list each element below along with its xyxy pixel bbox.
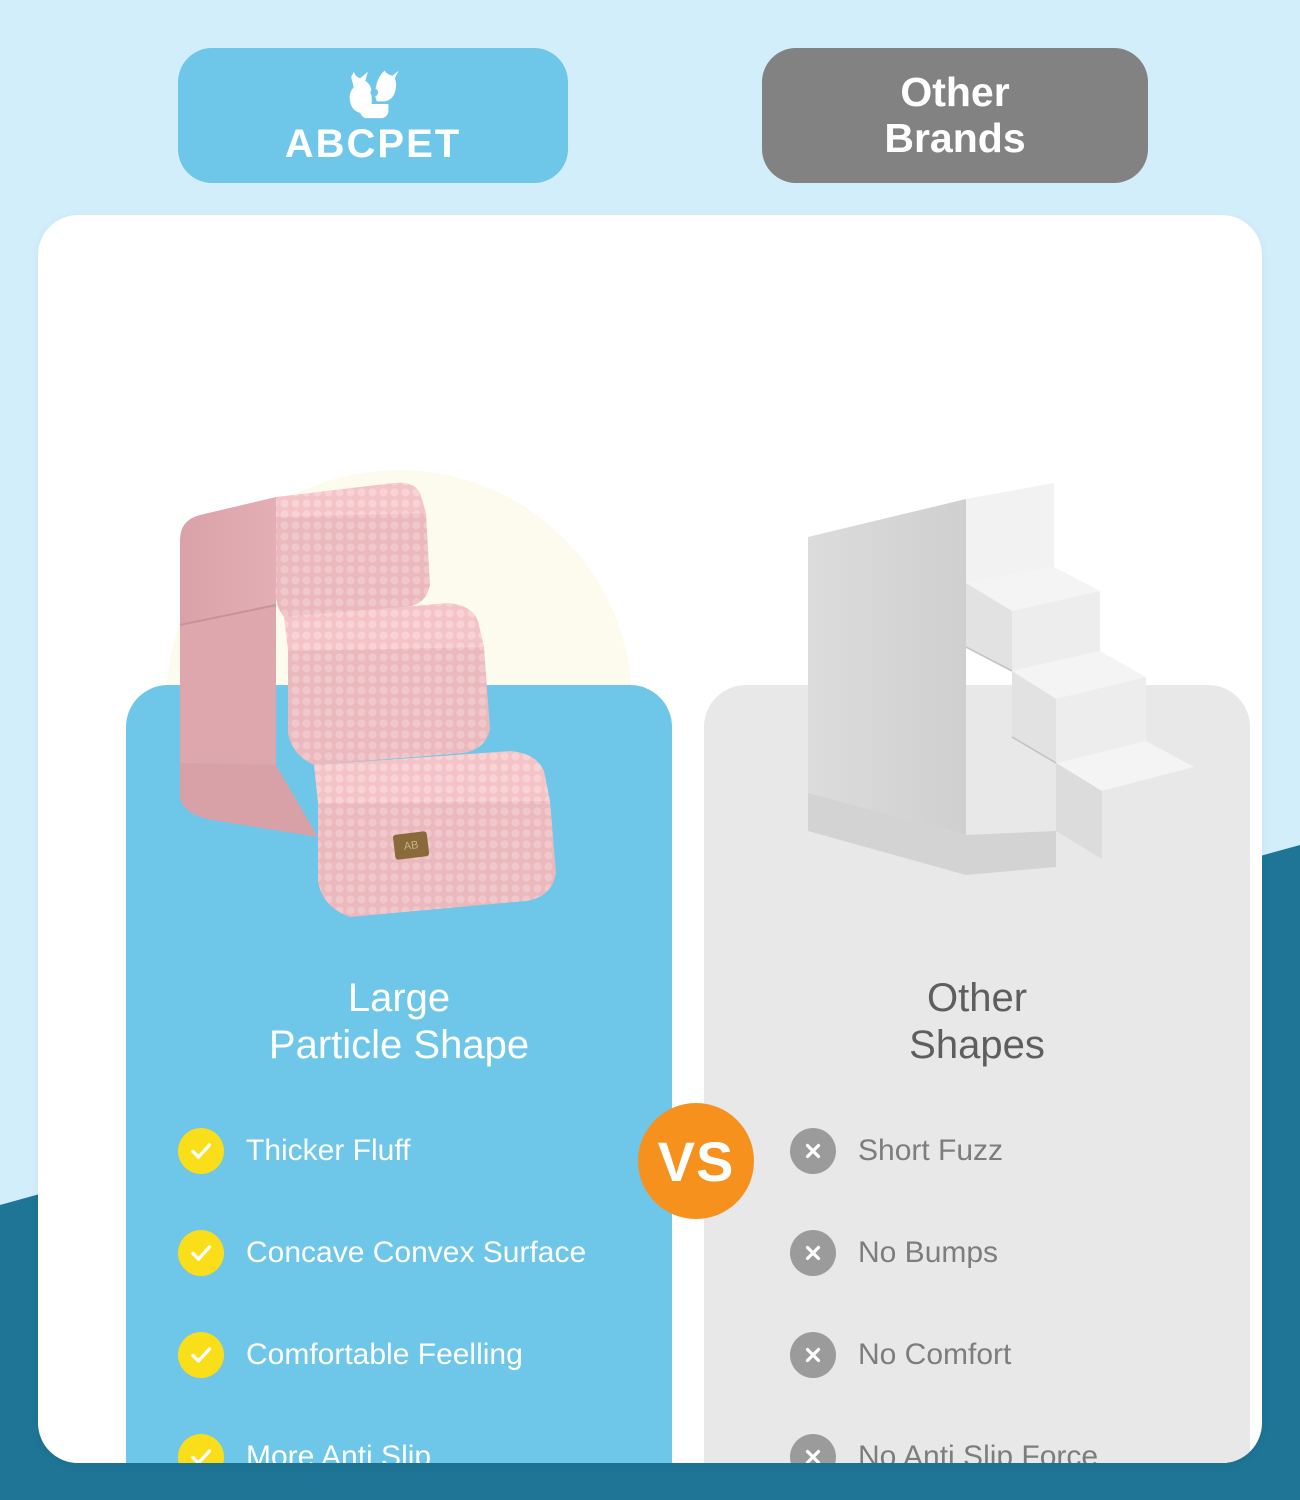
feature-label: Short Fuzz bbox=[858, 1134, 1003, 1169]
other-brands-line1: Other bbox=[884, 70, 1025, 116]
vs-badge: VS bbox=[638, 1103, 754, 1219]
right-feature-list: Short Fuzz No Bumps No Comfort No Anti S… bbox=[790, 1120, 1220, 1463]
check-icon bbox=[178, 1332, 224, 1378]
other-brands-badge: Other Brands bbox=[762, 48, 1148, 183]
comparison-card: AB Large bbox=[38, 215, 1262, 1463]
feature-label: No Anti Slip Force bbox=[858, 1440, 1098, 1463]
feature-label: No Bumps bbox=[858, 1236, 998, 1271]
brand-badge: ABCPET bbox=[178, 48, 568, 183]
feature-item: More Anti Slip bbox=[178, 1426, 648, 1463]
right-heading-line2: Shapes bbox=[704, 1022, 1250, 1069]
feature-label: Thicker Fluff bbox=[246, 1134, 411, 1169]
vs-label: VS bbox=[658, 1129, 735, 1194]
feature-label: Comfortable Feelling bbox=[246, 1338, 523, 1373]
feature-label: Concave Convex Surface bbox=[246, 1236, 586, 1271]
pink-pet-stairs-image: AB bbox=[158, 465, 678, 935]
header-row: ABCPET Other Brands bbox=[0, 48, 1300, 188]
white-pet-stairs-image bbox=[798, 475, 1218, 895]
feature-item: Thicker Fluff bbox=[178, 1120, 648, 1182]
brand-name: ABCPET bbox=[285, 124, 461, 164]
brand-tag-icon: AB bbox=[393, 831, 430, 860]
cross-icon bbox=[790, 1332, 836, 1378]
right-heading-line1: Other bbox=[704, 975, 1250, 1022]
left-feature-list: Thicker Fluff Concave Convex Surface Com… bbox=[178, 1120, 648, 1463]
other-brands-line2: Brands bbox=[884, 116, 1025, 162]
cross-icon bbox=[790, 1128, 836, 1174]
cat-dog-silhouette-icon bbox=[334, 68, 412, 122]
check-icon bbox=[178, 1230, 224, 1276]
feature-item: No Bumps bbox=[790, 1222, 1220, 1284]
cross-icon bbox=[790, 1434, 836, 1463]
feature-label: No Comfort bbox=[858, 1338, 1011, 1373]
feature-item: Concave Convex Surface bbox=[178, 1222, 648, 1284]
left-panel-heading: Large Particle Shape bbox=[126, 975, 672, 1069]
feature-item: Comfortable Feelling bbox=[178, 1324, 648, 1386]
right-panel-heading: Other Shapes bbox=[704, 975, 1250, 1069]
left-heading-line1: Large bbox=[126, 975, 672, 1022]
feature-label: More Anti Slip bbox=[246, 1440, 431, 1463]
check-icon bbox=[178, 1128, 224, 1174]
cross-icon bbox=[790, 1230, 836, 1276]
svg-text:AB: AB bbox=[403, 839, 419, 853]
left-heading-line2: Particle Shape bbox=[126, 1022, 672, 1069]
feature-item: Short Fuzz bbox=[790, 1120, 1220, 1182]
check-icon bbox=[178, 1434, 224, 1463]
feature-item: No Comfort bbox=[790, 1324, 1220, 1386]
feature-item: No Anti Slip Force bbox=[790, 1426, 1220, 1463]
